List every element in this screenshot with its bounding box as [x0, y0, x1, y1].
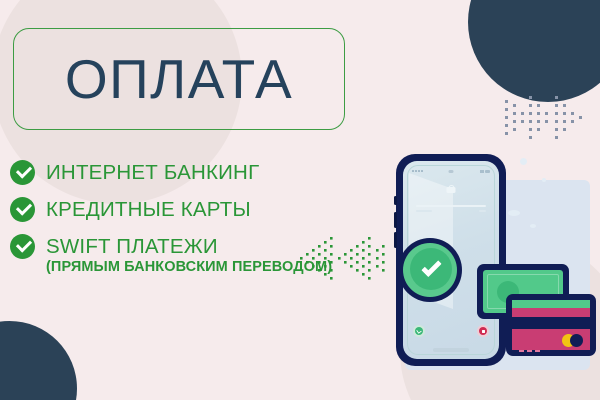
phone-volume-button — [394, 232, 397, 248]
feature-label-internet-banking: ИНТЕРНЕТ БАНКИНГ — [46, 161, 259, 185]
decor-speck — [530, 224, 536, 228]
home-indicator — [433, 348, 469, 352]
password-hint-left — [416, 210, 432, 212]
feature-list: ИНТЕРНЕТ БАНКИНГ КРЕДИТНЫЕ КАРТЫ SWIFT П… — [10, 160, 370, 278]
card-magnetic-stripe — [512, 317, 590, 329]
decor-navy-circle-top-right — [468, 0, 600, 102]
decor-dot-chevrons-navy — [505, 92, 597, 144]
card-scheme-circle-navy — [570, 334, 583, 347]
list-item: ИНТЕРНЕТ БАНКИНГ — [10, 160, 370, 185]
check-circle-icon — [10, 160, 35, 185]
check-circle-icon — [10, 234, 35, 259]
signal-dots-icon — [412, 170, 423, 172]
card-top-stripe — [512, 300, 590, 308]
decor-speck — [520, 158, 527, 165]
mobile-payment-illustration — [390, 140, 600, 380]
list-item: SWIFT ПЛАТЕЖИ — [10, 234, 370, 259]
decor-speck — [542, 178, 546, 182]
front-camera-icon — [449, 170, 454, 173]
credit-card-icon — [506, 294, 596, 356]
card-number-dashes — [519, 350, 540, 352]
end-call-icon — [477, 325, 489, 337]
checkmark-icon — [421, 257, 442, 278]
padlock-body — [447, 187, 456, 193]
decor-speck — [508, 210, 520, 216]
list-item: КРЕДИТНЫЕ КАРТЫ — [10, 197, 370, 222]
success-check-badge — [398, 238, 462, 302]
padlock-icon — [447, 185, 456, 193]
phone-side-button — [394, 196, 397, 205]
poster-canvas: ОПЛАТА ИНТЕРНЕТ БАНКИНГ КРЕДИТНЫЕ КАРТЫ … — [0, 0, 600, 400]
feature-sublabel-swift-payments: (ПРЯМЫМ БАНКОВСКИМ ПЕРЕВОДОМ) — [46, 257, 370, 278]
status-right-icons — [480, 170, 491, 173]
decor-navy-circle-bottom-left — [0, 321, 77, 400]
title-badge: ОПЛАТА — [13, 28, 345, 130]
password-hint-right — [479, 210, 486, 212]
phone-call-icon — [413, 325, 425, 337]
feature-label-swift-payments: SWIFT ПЛАТЕЖИ — [46, 235, 218, 259]
card-upper-band — [512, 308, 590, 317]
phone-status-bar — [412, 169, 490, 174]
badge-inner-circle — [410, 248, 452, 290]
check-circle-icon — [10, 197, 35, 222]
badge-outer-ring — [403, 243, 457, 297]
page-title: ОПЛАТА — [65, 52, 293, 107]
feature-label-credit-cards: КРЕДИТНЫЕ КАРТЫ — [46, 198, 251, 222]
phone-volume-button — [394, 212, 397, 228]
password-field-line — [416, 205, 486, 207]
